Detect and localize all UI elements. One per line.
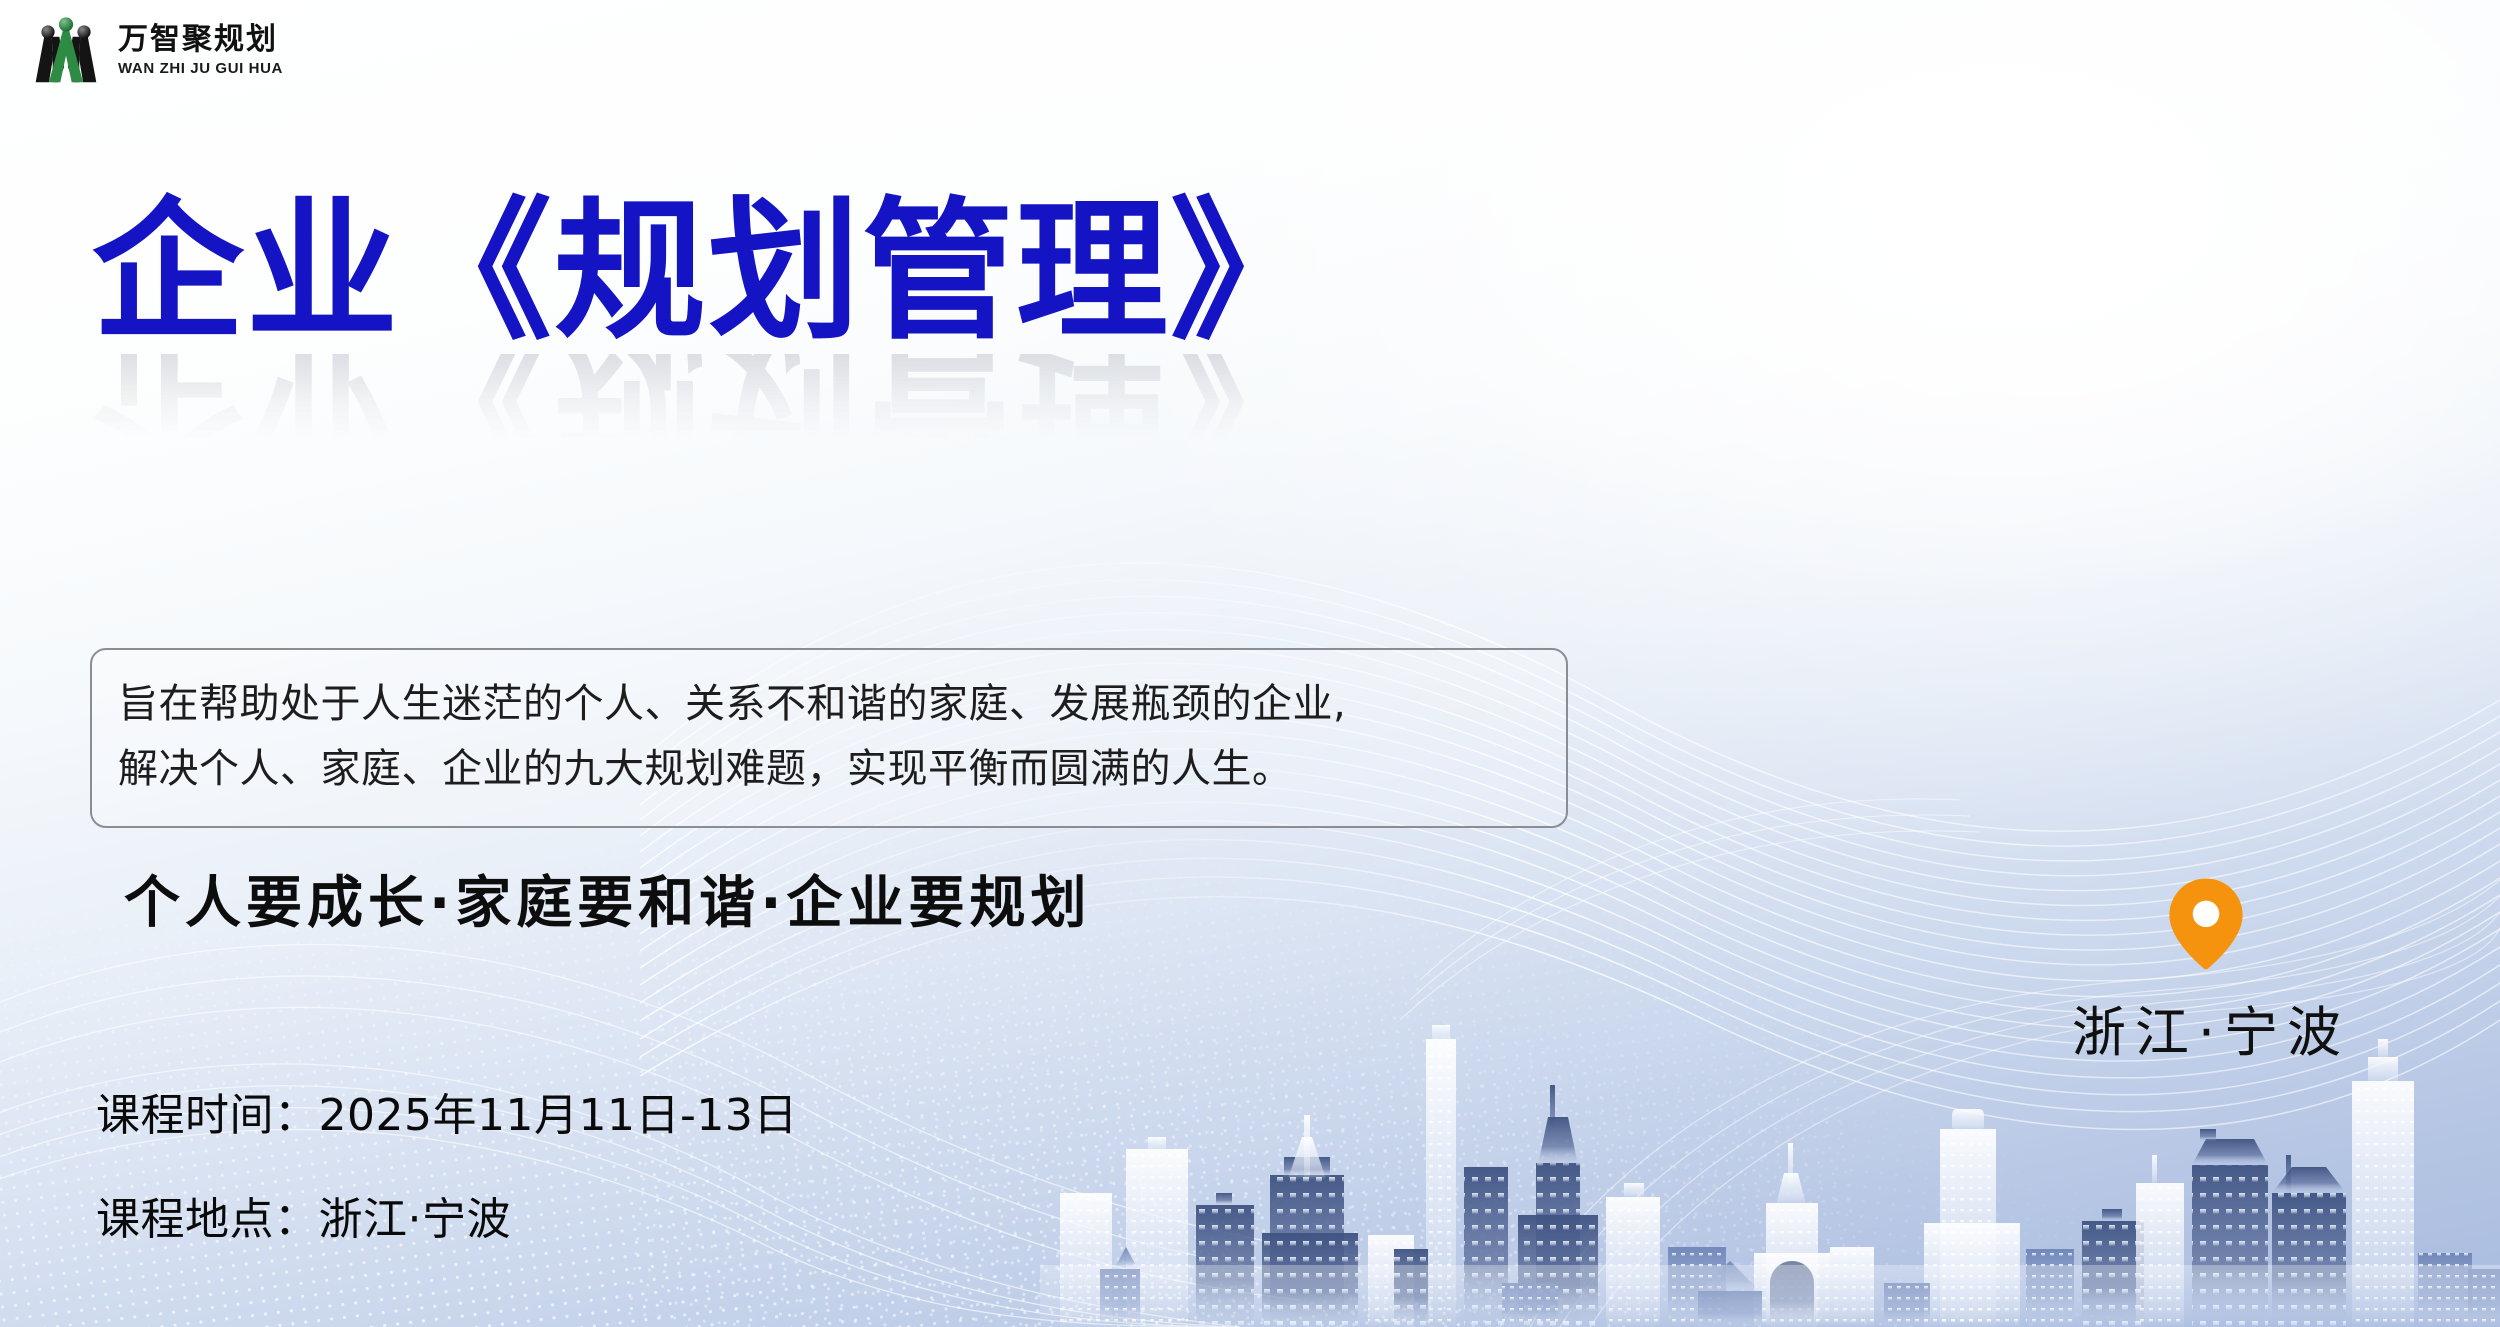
location-block: 浙江·宁波 — [2063, 876, 2350, 1067]
three-people-m-logo-icon — [28, 14, 104, 86]
course-time-row: 课程时间：2025年11月11日-13日 — [96, 1079, 798, 1143]
brand-name-cn: 万智聚规划 — [118, 25, 283, 55]
course-info: 课程时间：2025年11月11日-13日 课程地点：浙江·宁波 — [96, 1079, 798, 1247]
page-title-reflection: 企业《规划管理》 — [92, 354, 1692, 472]
poster-canvas: 万智聚规划 WAN ZHI JU GUI HUA 企业《规划管理》 企业《规划管… — [0, 0, 2500, 1327]
tagline: 个人要成长·家庭要和谐·企业要规划 — [124, 858, 1092, 939]
description-line-1: 旨在帮助处于人生迷茫的个人、关系不和谐的家庭、发展瓶颈的企业, — [118, 672, 1540, 737]
page-title: 企业《规划管理》 — [92, 196, 1692, 348]
description-box: 旨在帮助处于人生迷茫的个人、关系不和谐的家庭、发展瓶颈的企业, 解决个人、家庭、… — [90, 648, 1568, 828]
brand-logo[interactable]: 万智聚规划 WAN ZHI JU GUI HUA — [28, 14, 283, 86]
map-pin-icon — [2165, 876, 2247, 972]
brand-name-pinyin: WAN ZHI JU GUI HUA — [118, 61, 283, 76]
hero-title-block: 企业《规划管理》 企业《规划管理》 — [92, 196, 1692, 472]
description-line-2: 解决个人、家庭、企业的九大规划难题，实现平衡而圆满的人生。 — [118, 737, 1540, 802]
location-label: 浙江·宁波 — [2063, 988, 2350, 1067]
brand-text: 万智聚规划 WAN ZHI JU GUI HUA — [118, 25, 283, 76]
course-place-row: 课程地点：浙江·宁波 — [96, 1183, 798, 1247]
